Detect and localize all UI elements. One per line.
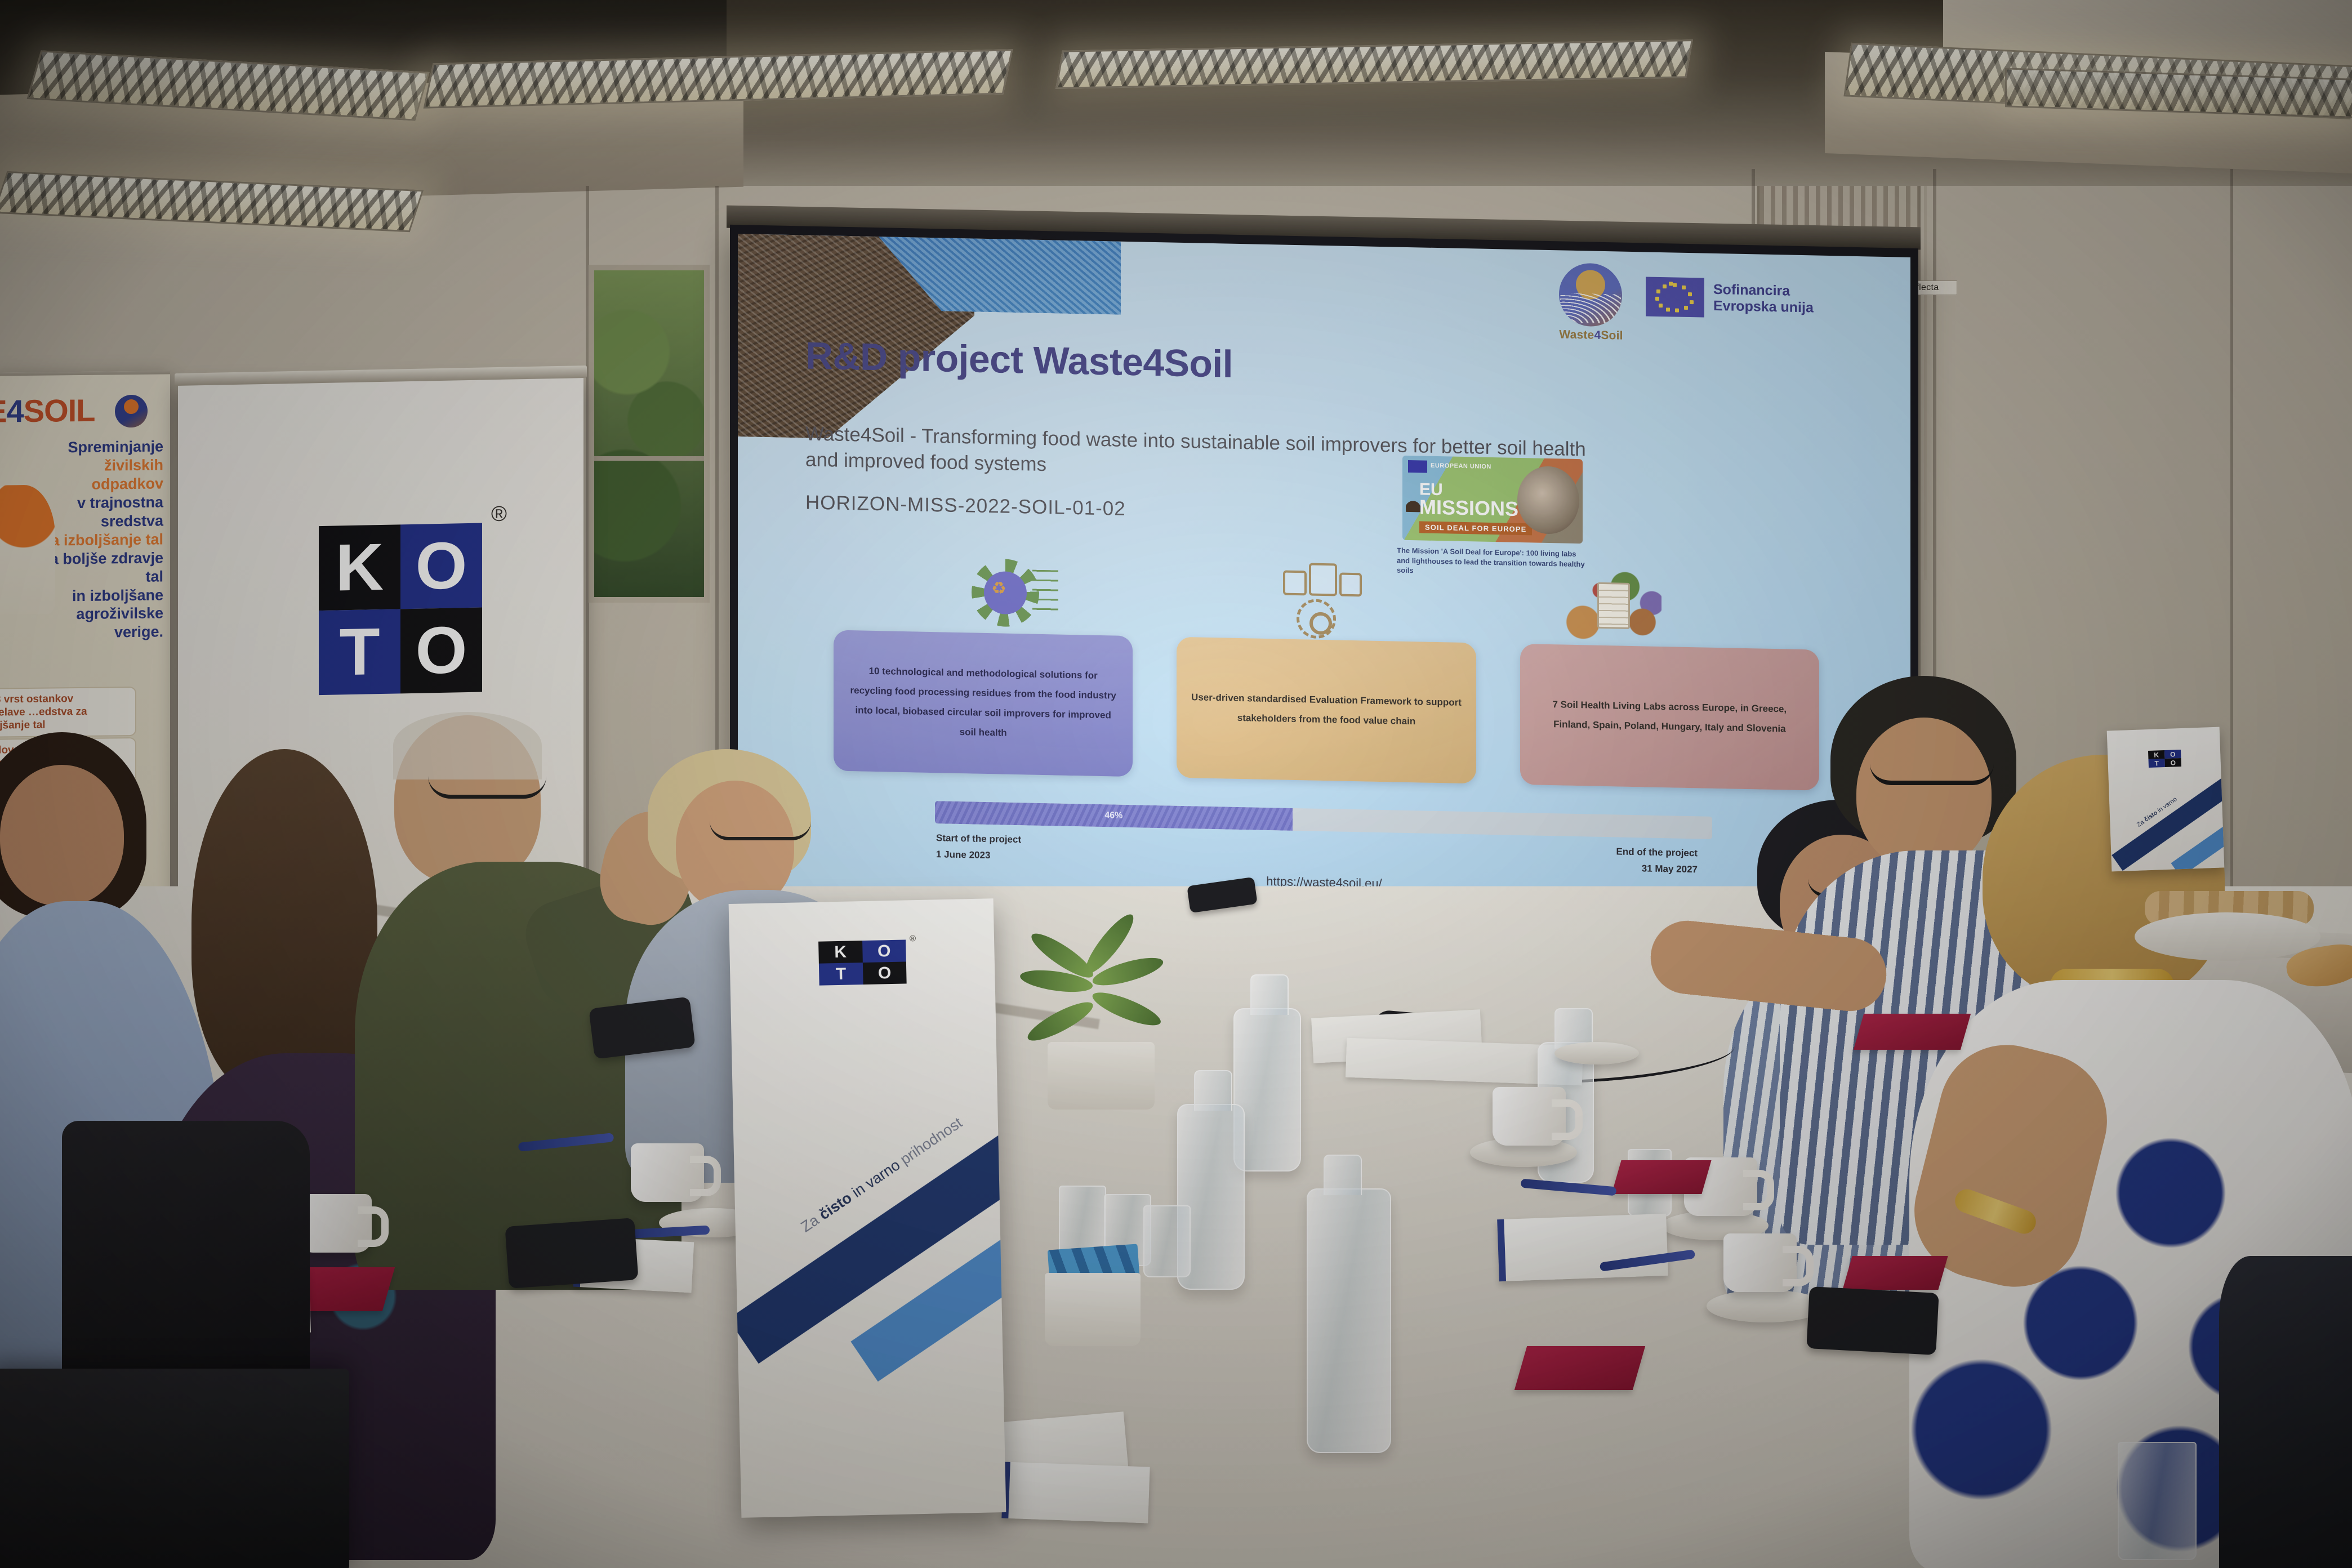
table-plant-centerpiece (1008, 946, 1200, 1110)
registered-trademark-mark: ® (910, 934, 916, 943)
waste4soil-logo: Waste4Soil (1554, 262, 1628, 349)
soil-hand-photo (1517, 466, 1579, 534)
evaluation-analytics-gear-icon (1273, 560, 1369, 640)
laptop[interactable] (0, 1369, 349, 1568)
rollup-illustration-person (0, 484, 55, 614)
recycling-chip-icon: ♻ (966, 554, 1062, 634)
coffee-mug[interactable] (1493, 1087, 1566, 1146)
smartphone[interactable] (505, 1218, 638, 1289)
tagline-za: Za (798, 1211, 822, 1236)
window-mullion (594, 456, 704, 461)
start-label: Start of the project (936, 830, 1021, 848)
napkin (1842, 1256, 1948, 1290)
tagline-cisto: čisto (816, 1189, 855, 1223)
start-date: 1 June 2023 (936, 847, 1021, 865)
table-tent-card-koto: K O T O ® Za čisto in varno prihodnost (729, 898, 1006, 1518)
eu-missions-tagline: SOIL DEAL FOR EUROPE (1419, 521, 1532, 535)
conference-room-photo: reflecta R&D project Waste4Soil Waste4So… (0, 0, 2352, 1568)
progress-fill: 46% (935, 801, 1293, 831)
registered-trademark-mark: ® (491, 502, 507, 527)
sprout-icon (1406, 495, 1420, 513)
saucer (1707, 1290, 1825, 1322)
food-clipboard-icon (1566, 566, 1661, 647)
pie-chart-bubble (1283, 571, 1307, 596)
napkin (1854, 1014, 1971, 1050)
chart-bubbles (1283, 563, 1362, 602)
box-livinglabs: 7 Soil Health Living Labs across Europe,… (1520, 644, 1819, 791)
waste4soil-wordmark: Waste4Soil (1554, 328, 1628, 343)
pastry-plate (2135, 912, 2320, 961)
blind-cord[interactable] (1924, 186, 1927, 580)
tagline-prihodnost: prihodnost (897, 1114, 965, 1168)
rollup-logo-badge (115, 395, 148, 428)
slide-title: R&D project Waste4Soil (805, 334, 1233, 386)
window (589, 265, 710, 603)
koto-logo: K O T O (319, 523, 482, 696)
napkin (1514, 1346, 1645, 1390)
tagline-invarno: in varno (849, 1156, 903, 1201)
slide-call-code: HORIZON-MISS-2022-SOIL-01-02 (805, 492, 1126, 520)
sachet-holder (1045, 1273, 1141, 1346)
eu-cofunding-block: Sofinancira Evropska unija (1646, 277, 1814, 319)
coffee-mug[interactable] (631, 1143, 704, 1202)
waste4soil-logo-disc (1559, 262, 1622, 327)
plant-leaf (1089, 986, 1164, 1031)
tagline-za: Za (2136, 819, 2145, 828)
eu-missions-union-label: EUROPEAN UNION (1431, 462, 1491, 470)
wordmark-part1: Waste (1559, 328, 1594, 341)
saucer (1554, 1042, 1639, 1064)
end-label: End of the project (1616, 844, 1698, 862)
tent-card-stripe-dark (729, 1122, 1006, 1364)
bar-chart-bubble (1339, 573, 1362, 597)
end-date: 31 May 2027 (1616, 860, 1698, 878)
plant-leaf (1023, 996, 1097, 1047)
koto-letter-k: K (319, 524, 400, 611)
water-carafe[interactable] (1307, 1188, 1391, 1453)
eu-stars (1646, 277, 1704, 317)
coffee-mug[interactable] (1723, 1233, 1797, 1292)
wordmark-part2: 4 (1594, 329, 1601, 342)
project-end-block: End of the project 31 May 2027 (1616, 844, 1698, 878)
wine-glass[interactable] (2118, 1442, 2197, 1560)
waste4soil-furrow-lines (1560, 293, 1621, 323)
gear-cycle-shape (1297, 599, 1336, 639)
box-framework: User-driven standardised Evaluation Fram… (1177, 637, 1476, 784)
napkin (1611, 1160, 1711, 1194)
koto-letter-o2: O (2164, 758, 2181, 767)
tagline-cisto: čisto (2143, 809, 2159, 823)
koto-letter-t: T (319, 609, 400, 695)
attendee-person (2219, 1256, 2352, 1568)
drinking-glass[interactable] (1143, 1205, 1191, 1277)
koto-letter-k: K (2148, 750, 2165, 759)
line-chart-bubble (1309, 563, 1337, 596)
rollup-chip: …e 8 vrst ostankov predelave …edstva za … (0, 687, 136, 738)
circuit-traces (1032, 570, 1058, 618)
koto-logo: K O T O (2148, 750, 2181, 768)
eu-cofunding-text: Sofinancira Evropska unija (1713, 281, 1814, 317)
presentation-slide: R&D project Waste4Soil Waste4Soil (738, 234, 1910, 923)
koto-letter-o1: O (2164, 750, 2181, 759)
rollup-wordmark: TE4SOIL (0, 392, 95, 430)
recycle-symbol: ♻ (991, 580, 1009, 599)
koto-letter-o1: O (400, 523, 482, 609)
slide-key-boxes: 10 technological and methodological solu… (834, 630, 1819, 791)
notepad[interactable] (1001, 1462, 1150, 1523)
koto-letter-t: T (819, 963, 863, 986)
koto-letter-o1: O (862, 939, 906, 963)
box-solutions: 10 technological and methodological solu… (834, 630, 1133, 777)
project-progress-bar: 46% (935, 801, 1712, 839)
koto-letter-k: K (818, 941, 862, 964)
project-start-block: Start of the project 1 June 2023 (936, 830, 1021, 865)
eu-missions-graphic: EUROPEAN UNION EU MISSIONS SOIL DEAL FOR… (1402, 456, 1583, 544)
koto-letter-o2: O (862, 961, 906, 985)
eu-missions-line2: MISSIONS (1419, 497, 1518, 519)
wordmark-part3: Soil (1601, 329, 1623, 342)
clipboard-shape (1597, 582, 1630, 629)
credenza-tent-card-koto: K O T O Za čisto in varno (2107, 727, 2225, 872)
koto-logo: K O T O (818, 939, 907, 985)
eu-missions-flag-icon (1408, 460, 1427, 473)
koto-letter-o2: O (400, 608, 482, 694)
plant-pot (1048, 1042, 1155, 1110)
koto-letter-t: T (2149, 759, 2166, 768)
notepad[interactable] (1497, 1214, 1668, 1281)
smartphone[interactable] (1806, 1286, 1939, 1355)
eu-flag-icon (1646, 277, 1704, 317)
window-foliage (594, 270, 704, 597)
